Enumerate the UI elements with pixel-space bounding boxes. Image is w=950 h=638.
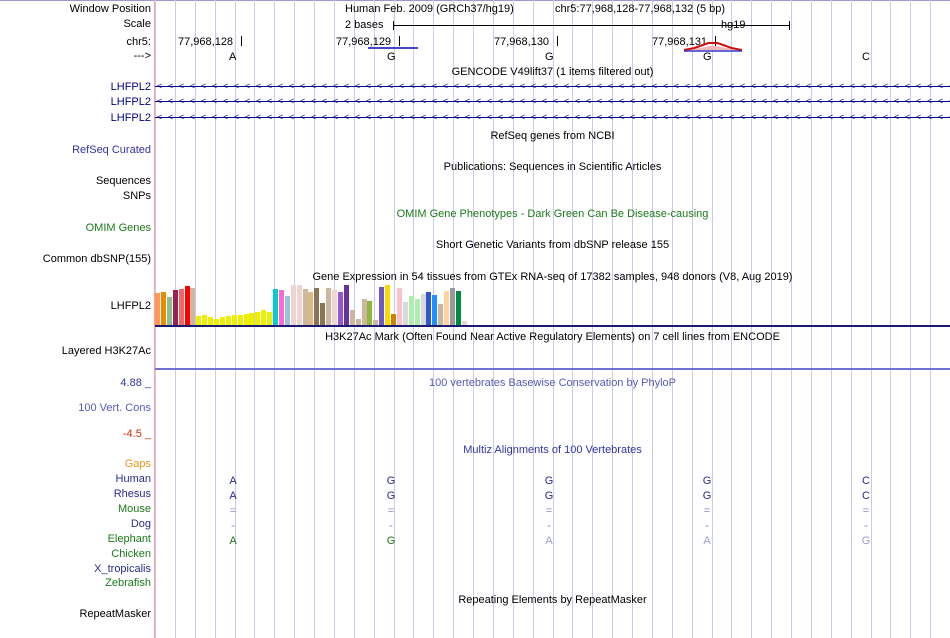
label-species-dog[interactable]: Dog: [131, 519, 151, 530]
phylop-positive-peak[interactable]: [684, 36, 742, 54]
label-gencode-1[interactable]: LHFPL2: [111, 82, 151, 93]
strand-arrow-icon: <: [520, 82, 525, 91]
strand-arrow-icon: <: [674, 97, 679, 106]
strand-arrow-icon: <: [278, 82, 283, 91]
multiz-base-letter: G: [543, 489, 555, 503]
strand-arrow-icon: <: [608, 113, 613, 122]
multiz-track-title: Multiz Alignments of 100 Vertebrates: [155, 444, 950, 456]
refseq-track-title: RefSeq genes from NCBI: [155, 130, 950, 142]
phylop-negative-bar[interactable]: [368, 47, 418, 49]
strand-arrow-icon: <: [487, 82, 492, 91]
strand-arrow-icon: <: [718, 82, 723, 91]
strand-arrow-icon: <: [806, 82, 811, 91]
strand-arrow-icon: <: [289, 113, 294, 122]
strand-arrow-icon: <: [641, 82, 646, 91]
strand-arrow-icon: <: [663, 82, 668, 91]
strand-arrow-icon: <: [432, 97, 437, 106]
gtex-tissue-bar[interactable]: [338, 292, 343, 327]
strand-arrow-icon: <: [630, 97, 635, 106]
strand-arrow-icon: <: [729, 97, 734, 106]
strand-arrow-icon: <: [355, 113, 360, 122]
ruler-base-letter: G: [387, 51, 396, 63]
strand-arrow-icon: <: [773, 97, 778, 106]
track-label-column: Window Position Scale chr5: ---> LHFPL2 …: [0, 0, 153, 638]
strand-arrow-icon: <: [916, 97, 921, 106]
label-chrom: chr5:: [127, 37, 151, 48]
multiz-base-letter: -: [385, 519, 397, 533]
ruler-base-letter: A: [229, 51, 236, 63]
strand-arrow-icon: <: [542, 113, 547, 122]
strand-arrow-icon: <: [718, 113, 723, 122]
ruler-coordinate-label: 77,968,128: [178, 36, 233, 48]
gtex-tissue-bar[interactable]: [456, 291, 461, 327]
strand-arrow-icon: <: [663, 113, 668, 122]
multiz-base-letter: G: [860, 534, 872, 548]
strand-arrow-icon: <: [542, 97, 547, 106]
strand-arrow-icon: <: [278, 97, 283, 106]
strand-arrow-icon: <: [498, 82, 503, 91]
strand-arrow-icon: <: [630, 113, 635, 122]
strand-arrow-icon: <: [707, 82, 712, 91]
label-species-chicken[interactable]: Chicken: [111, 549, 151, 560]
strand-arrow-icon: <: [586, 82, 591, 91]
gtex-tissue-bar[interactable]: [291, 285, 296, 327]
strand-arrow-icon: <: [707, 97, 712, 106]
strand-arrow-icon: <: [212, 97, 217, 106]
strand-arrow-icon: <: [586, 113, 591, 122]
phylop-axis-min: -4.5 _: [123, 429, 151, 440]
strand-arrow-icon: <: [729, 82, 734, 91]
strand-arrow-icon: <: [234, 82, 239, 91]
strand-arrow-icon: <: [311, 82, 316, 91]
strand-arrow-icon: <: [223, 82, 228, 91]
gtex-tissue-bar[interactable]: [397, 288, 402, 327]
scale-tick-right: [789, 21, 790, 30]
gtex-tissue-bar[interactable]: [344, 285, 349, 327]
gtex-tissue-bar[interactable]: [314, 288, 319, 327]
gtex-bar-chart[interactable]: [155, 283, 950, 327]
gtex-tissue-bar[interactable]: [320, 303, 325, 327]
strand-arrow-icon: <: [762, 97, 767, 106]
strand-arrow-icon: <: [861, 97, 866, 106]
strand-arrow-icon: <: [201, 97, 206, 106]
multiz-species-row[interactable]: =====: [155, 504, 950, 518]
strand-arrow-icon: <: [432, 82, 437, 91]
multiz-base-letter: =: [227, 504, 239, 518]
strand-arrow-icon: <: [927, 82, 932, 91]
strand-arrow-icon: <: [608, 97, 613, 106]
strand-arrow-icon: <: [619, 97, 624, 106]
strand-arrow-icon: <: [817, 82, 822, 91]
strand-arrow-icon: <: [597, 113, 602, 122]
multiz-species-row[interactable]: -----: [155, 519, 950, 533]
multiz-base-letter: C: [860, 489, 872, 503]
strand-arrow-icon: <: [619, 113, 624, 122]
label-strand: --->: [134, 51, 151, 62]
strand-arrow-icon: <: [487, 97, 492, 106]
multiz-species-row[interactable]: AGAAG: [155, 534, 950, 548]
strand-arrow-icon: <: [267, 82, 272, 91]
strand-arrow-icon: <: [201, 113, 206, 122]
strand-arrow-icon: <: [696, 82, 701, 91]
strand-arrow-icon: <: [905, 113, 910, 122]
strand-arrow-icon: <: [157, 97, 162, 106]
multiz-species-row[interactable]: AGGGC: [155, 489, 950, 503]
label-gencode-3[interactable]: LHFPL2: [111, 113, 151, 124]
strand-arrow-icon: <: [751, 113, 756, 122]
strand-arrow-icon: <: [388, 82, 393, 91]
strand-arrow-icon: <: [806, 113, 811, 122]
strand-arrow-icon: <: [388, 113, 393, 122]
strand-arrow-icon: <: [883, 97, 888, 106]
strand-arrow-icon: <: [740, 113, 745, 122]
strand-arrow-icon: <: [883, 113, 888, 122]
multiz-base-letter: -: [227, 519, 239, 533]
multiz-base-letter: A: [227, 489, 239, 503]
multiz-base-letter: -: [701, 519, 713, 533]
multiz-base-letter: =: [385, 504, 397, 518]
publications-track-title: Publications: Sequences in Scientific Ar…: [155, 161, 950, 173]
gtex-tissue-bar[interactable]: [409, 296, 414, 327]
strand-arrow-icon: <: [531, 113, 536, 122]
strand-arrow-icon: <: [872, 82, 877, 91]
gtex-tissue-bar[interactable]: [385, 285, 390, 327]
strand-arrow-icon: <: [619, 82, 624, 91]
gtex-tissue-bar[interactable]: [308, 292, 313, 327]
strand-arrow-icon: <: [641, 97, 646, 106]
strand-arrow-icon: <: [157, 82, 162, 91]
multiz-base-letter: A: [701, 534, 713, 548]
ruler-tick: [241, 36, 242, 46]
strand-arrow-icon: <: [212, 82, 217, 91]
strand-arrow-icon: <: [289, 82, 294, 91]
strand-arrow-icon: <: [410, 97, 415, 106]
strand-arrow-icon: <: [938, 82, 943, 91]
strand-arrow-icon: <: [311, 113, 316, 122]
strand-arrow-icon: <: [817, 113, 822, 122]
gtex-tissue-bar[interactable]: [326, 288, 331, 327]
multiz-base-letter: -: [860, 519, 872, 533]
omim-track-title: OMIM Gene Phenotypes - Dark Green Can Be…: [155, 208, 950, 220]
ruler-base-letter: C: [862, 51, 870, 63]
strand-arrow-icon: <: [839, 82, 844, 91]
gtex-tissue-bar[interactable]: [367, 301, 372, 327]
strand-arrow-icon: <: [872, 97, 877, 106]
strand-arrow-icon: <: [278, 113, 283, 122]
label-species-x-tropicalis[interactable]: X_tropicalis: [94, 564, 151, 575]
strand-arrow-icon: <: [377, 113, 382, 122]
strand-arrow-icon: <: [641, 113, 646, 122]
multiz-base-letter: A: [543, 534, 555, 548]
strand-arrow-icon: <: [256, 113, 261, 122]
strand-arrow-icon: <: [421, 113, 426, 122]
strand-arrow-icon: <: [839, 97, 844, 106]
strand-arrow-icon: <: [597, 82, 602, 91]
gtex-tissue-bar[interactable]: [432, 295, 437, 327]
strand-arrow-icon: <: [564, 97, 569, 106]
ruler-coordinate-label: 77,968,130: [494, 36, 549, 48]
strand-arrow-icon: <: [223, 113, 228, 122]
gtex-tissue-bar[interactable]: [403, 302, 408, 327]
strand-arrow-icon: <: [784, 113, 789, 122]
label-window-position: Window Position: [70, 4, 151, 15]
strand-arrow-icon: <: [245, 97, 250, 106]
label-gencode-2[interactable]: LHFPL2: [111, 97, 151, 108]
strand-arrow-icon: <: [245, 82, 250, 91]
strand-arrow-icon: <: [795, 113, 800, 122]
strand-arrow-icon: <: [157, 113, 162, 122]
strand-arrow-icon: <: [223, 97, 228, 106]
strand-arrow-icon: <: [674, 113, 679, 122]
strand-arrow-icon: <: [443, 113, 448, 122]
strand-arrow-icon: <: [905, 82, 910, 91]
gtex-tissue-bar[interactable]: [444, 291, 449, 327]
strand-arrow-icon: <: [256, 82, 261, 91]
gencode-transcript-row-2[interactable]: <<<<<<<<<<<<<<<<<<<<<<<<<<<<<<<<<<<<<<<<…: [155, 97, 950, 106]
gtex-tissue-bar[interactable]: [173, 290, 178, 327]
label-species-elephant[interactable]: Elephant: [108, 534, 151, 545]
strand-arrow-icon: <: [399, 113, 404, 122]
strand-arrow-icon: <: [850, 82, 855, 91]
strand-arrow-icon: <: [234, 97, 239, 106]
multiz-base-letter: =: [543, 504, 555, 518]
strand-arrow-icon: <: [707, 113, 712, 122]
strand-arrow-icon: <: [179, 82, 184, 91]
strand-arrow-icon: <: [872, 113, 877, 122]
strand-arrow-icon: <: [883, 82, 888, 91]
strand-arrow-icon: <: [366, 113, 371, 122]
label-gtex-lhfpl2[interactable]: LHFPL2: [111, 301, 151, 312]
strand-arrow-icon: <: [322, 97, 327, 106]
strand-arrow-icon: <: [564, 82, 569, 91]
multiz-species-row[interactable]: AGGGC: [155, 474, 950, 488]
strand-arrow-icon: <: [377, 82, 382, 91]
strand-arrow-icon: <: [322, 113, 327, 122]
label-species-zebrafish[interactable]: Zebrafish: [105, 578, 151, 589]
strand-arrow-icon: <: [773, 113, 778, 122]
gtex-tissue-bar[interactable]: [190, 288, 195, 327]
strand-arrow-icon: <: [784, 82, 789, 91]
strand-arrow-icon: <: [388, 97, 393, 106]
strand-arrow-icon: <: [740, 97, 745, 106]
gtex-tissue-bar[interactable]: [379, 287, 384, 327]
strand-arrow-icon: <: [179, 113, 184, 122]
strand-arrow-icon: <: [476, 97, 481, 106]
multiz-base-letter: C: [860, 474, 872, 488]
strand-arrow-icon: <: [454, 82, 459, 91]
multiz-species-row[interactable]: [155, 459, 950, 473]
label-species-human[interactable]: Human: [116, 474, 151, 485]
multiz-base-letter: G: [543, 474, 555, 488]
label-species-gaps[interactable]: Gaps: [125, 459, 151, 470]
label-refseq-curated[interactable]: RefSeq Curated: [72, 145, 151, 156]
strand-arrow-icon: <: [201, 82, 206, 91]
strand-arrow-icon: <: [366, 82, 371, 91]
strand-arrow-icon: <: [553, 97, 558, 106]
gtex-tissue-bar[interactable]: [155, 293, 160, 327]
strand-arrow-icon: <: [795, 97, 800, 106]
gtex-tissue-bar[interactable]: [167, 297, 172, 327]
multiz-base-letter: =: [860, 504, 872, 518]
dbsnp-track-title: Short Genetic Variants from dbSNP releas…: [155, 239, 950, 251]
gencode-track-title: GENCODE V49lift37 (1 items filtered out): [155, 66, 950, 78]
strand-arrow-icon: <: [476, 113, 481, 122]
strand-arrow-icon: <: [685, 82, 690, 91]
gencode-transcript-row-1[interactable]: <<<<<<<<<<<<<<<<<<<<<<<<<<<<<<<<<<<<<<<<…: [155, 82, 950, 91]
strand-arrow-icon: <: [652, 113, 657, 122]
strand-arrow-icon: <: [432, 113, 437, 122]
strand-arrow-icon: <: [256, 97, 261, 106]
strand-arrow-icon: <: [795, 82, 800, 91]
multiz-species-row[interactable]: [155, 549, 950, 563]
gtex-tissue-bar[interactable]: [450, 288, 455, 327]
strand-arrow-icon: <: [531, 97, 536, 106]
scale-label: 2 bases: [345, 19, 384, 31]
strand-arrow-icon: <: [751, 82, 756, 91]
data-panel[interactable]: Human Feb. 2009 (GRCh37/hg19) chr5:77,96…: [155, 0, 950, 638]
label-species-rhesus[interactable]: Rhesus: [114, 489, 151, 500]
strand-arrow-icon: <: [234, 113, 239, 122]
gtex-tissue-bar[interactable]: [161, 292, 166, 327]
strand-arrow-icon: <: [894, 97, 899, 106]
strand-arrow-icon: <: [421, 97, 426, 106]
strand-arrow-icon: <: [476, 82, 481, 91]
assembly-label: Human Feb. 2009 (GRCh37/hg19): [345, 3, 514, 15]
label-common-dbsnp[interactable]: Common dbSNP(155): [43, 254, 151, 265]
strand-arrow-icon: <: [553, 82, 558, 91]
strand-arrow-icon: <: [168, 97, 173, 106]
strand-arrow-icon: <: [608, 82, 613, 91]
strand-arrow-icon: <: [916, 113, 921, 122]
strand-arrow-icon: <: [190, 113, 195, 122]
strand-arrow-icon: <: [685, 113, 690, 122]
label-repeatmasker[interactable]: RepeatMasker: [79, 609, 151, 620]
strand-arrow-icon: <: [685, 97, 690, 106]
strand-arrow-icon: <: [322, 82, 327, 91]
strand-arrow-icon: <: [652, 82, 657, 91]
gtex-tissue-bar[interactable]: [426, 292, 431, 327]
label-scale: Scale: [123, 19, 151, 30]
multiz-species-row[interactable]: [155, 564, 950, 578]
strand-arrow-icon: <: [498, 113, 503, 122]
strand-arrow-icon: <: [905, 97, 910, 106]
gtex-tissue-bar[interactable]: [297, 285, 302, 327]
gtex-tissue-bar[interactable]: [279, 290, 284, 327]
strand-arrow-icon: <: [454, 97, 459, 106]
strand-arrow-icon: <: [179, 97, 184, 106]
strand-arrow-icon: <: [344, 113, 349, 122]
strand-arrow-icon: <: [190, 82, 195, 91]
label-layered-h3k27ac[interactable]: Layered H3K27Ac: [62, 346, 151, 357]
strand-arrow-icon: <: [828, 82, 833, 91]
strand-arrow-icon: <: [916, 82, 921, 91]
multiz-base-letter: G: [385, 474, 397, 488]
strand-arrow-icon: <: [509, 82, 514, 91]
strand-arrow-icon: <: [366, 97, 371, 106]
strand-arrow-icon: <: [597, 97, 602, 106]
strand-arrow-icon: <: [454, 113, 459, 122]
strand-arrow-icon: <: [575, 82, 580, 91]
db-label: hg19: [721, 19, 745, 31]
strand-arrow-icon: <: [300, 113, 305, 122]
strand-arrow-icon: <: [465, 97, 470, 106]
strand-arrow-icon: <: [927, 113, 932, 122]
label-sequences[interactable]: Sequences: [96, 176, 151, 187]
gtex-tissue-bar[interactable]: [438, 304, 443, 327]
strand-arrow-icon: <: [520, 97, 525, 106]
strand-arrow-icon: <: [190, 97, 195, 106]
strand-arrow-icon: <: [850, 97, 855, 106]
strand-arrow-icon: <: [465, 82, 470, 91]
gtex-tissue-bar[interactable]: [415, 299, 420, 327]
strand-arrow-icon: <: [806, 97, 811, 106]
label-100-vert-cons[interactable]: 100 Vert. Cons: [78, 403, 151, 414]
multiz-base-letter: A: [227, 474, 239, 488]
gtex-tissue-bar[interactable]: [179, 289, 184, 327]
strand-arrow-icon: <: [344, 82, 349, 91]
strand-arrow-icon: <: [828, 113, 833, 122]
label-snps[interactable]: SNPs: [123, 191, 151, 202]
strand-arrow-icon: <: [894, 82, 899, 91]
gtex-tissue-bar[interactable]: [273, 289, 278, 327]
gencode-transcript-row-3[interactable]: <<<<<<<<<<<<<<<<<<<<<<<<<<<<<<<<<<<<<<<<…: [155, 113, 950, 122]
multiz-species-row[interactable]: [155, 579, 950, 593]
phylop-track-title: 100 vertebrates Basewise Conservation by…: [155, 377, 950, 389]
strand-arrow-icon: <: [861, 82, 866, 91]
strand-arrow-icon: <: [663, 97, 668, 106]
strand-arrow-icon: <: [344, 97, 349, 106]
strand-arrow-icon: <: [212, 113, 217, 122]
strand-arrow-icon: <: [289, 97, 294, 106]
strand-arrow-icon: <: [410, 113, 415, 122]
strand-arrow-icon: <: [938, 97, 943, 106]
h3k27ac-track-title: H3K27Ac Mark (Often Found Near Active Re…: [155, 331, 950, 343]
strand-arrow-icon: <: [509, 97, 514, 106]
multiz-base-letter: =: [701, 504, 713, 518]
strand-arrow-icon: <: [333, 97, 338, 106]
strand-arrow-icon: <: [399, 97, 404, 106]
gtex-tissue-bar[interactable]: [285, 296, 290, 327]
strand-arrow-icon: <: [861, 113, 866, 122]
strand-arrow-icon: <: [333, 113, 338, 122]
gtex-tissue-bar[interactable]: [332, 290, 337, 327]
strand-arrow-icon: <: [586, 97, 591, 106]
strand-arrow-icon: <: [410, 82, 415, 91]
strand-arrow-icon: <: [564, 113, 569, 122]
strand-arrow-icon: <: [817, 97, 822, 106]
strand-arrow-icon: <: [399, 82, 404, 91]
gtex-track-title: Gene Expression in 54 tissues from GTEx …: [155, 271, 950, 283]
multiz-base-letter: G: [385, 489, 397, 503]
strand-arrow-icon: <: [267, 97, 272, 106]
strand-arrow-icon: <: [355, 97, 360, 106]
strand-arrow-icon: <: [245, 113, 250, 122]
multiz-base-letter: A: [227, 534, 239, 548]
multiz-base-letter: -: [543, 519, 555, 533]
label-omim-genes[interactable]: OMIM Genes: [86, 223, 151, 234]
strand-arrow-icon: <: [894, 113, 899, 122]
strand-arrow-icon: <: [652, 97, 657, 106]
strand-arrow-icon: <: [938, 113, 943, 122]
genome-browser[interactable]: Window Position Scale chr5: ---> LHFPL2 …: [0, 0, 950, 638]
strand-arrow-icon: <: [443, 82, 448, 91]
strand-arrow-icon: <: [630, 82, 635, 91]
strand-arrow-icon: <: [773, 82, 778, 91]
strand-arrow-icon: <: [300, 82, 305, 91]
strand-arrow-icon: <: [333, 82, 338, 91]
strand-arrow-icon: <: [762, 113, 767, 122]
label-species-mouse[interactable]: Mouse: [118, 504, 151, 515]
